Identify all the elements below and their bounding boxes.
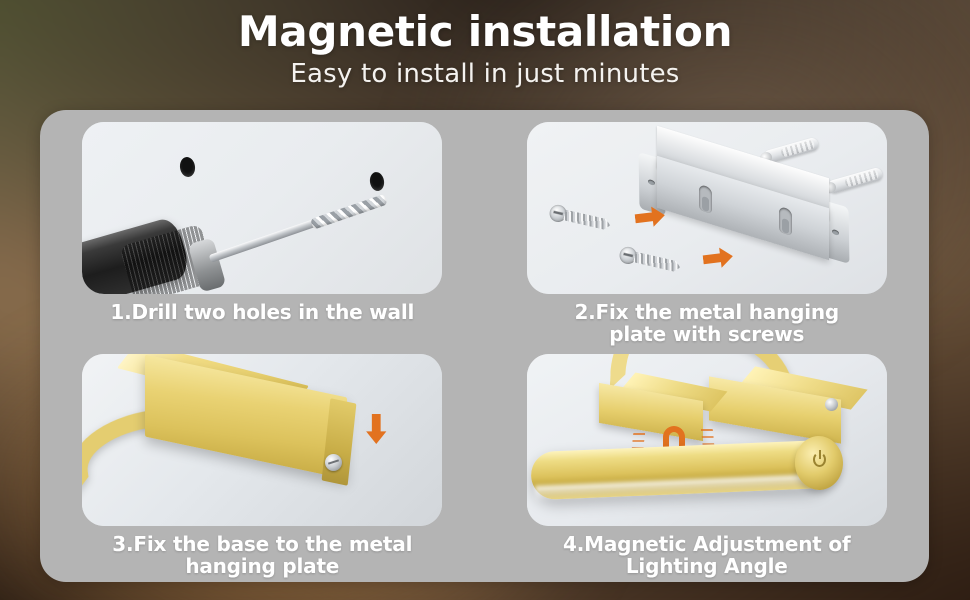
step-2-caption: 2.Fix the metal hanging plate with screw…	[522, 301, 892, 346]
step-4-caption: 4.Magnetic Adjustment of Lighting Angle	[522, 533, 892, 578]
page-subtitle: Easy to install in just minutes	[0, 59, 970, 89]
steps-grid: 1.Drill two holes in the wall	[40, 110, 929, 582]
keyhole-slot-icon	[699, 184, 712, 214]
step-3-caption-line-2: hanging plate	[77, 555, 447, 577]
keyhole-slot-icon	[779, 206, 792, 236]
step-3-caption-line-1: 3.Fix the base to the metal	[77, 533, 447, 555]
step-4-caption-line-2: Lighting Angle	[522, 555, 892, 577]
step-4-image	[527, 354, 887, 526]
step-1-image	[82, 122, 442, 294]
step-1-caption: 1.Drill two holes in the wall	[77, 301, 447, 323]
step-3-image	[82, 354, 442, 526]
step-2-image	[527, 122, 887, 294]
step-4: 4.Magnetic Adjustment of Lighting Angle	[485, 346, 930, 582]
power-button-icon[interactable]	[813, 452, 826, 467]
steps-panel: 1.Drill two holes in the wall	[40, 110, 929, 582]
fixing-screw-icon	[825, 398, 838, 411]
header: Magnetic installation Easy to install in…	[0, 8, 970, 89]
step-3: 3.Fix the base to the metal hanging plat…	[40, 346, 485, 582]
infographic-root: Magnetic installation Easy to install in…	[0, 0, 970, 600]
step-1: 1.Drill two holes in the wall	[40, 110, 485, 346]
page-title: Magnetic installation	[0, 8, 970, 55]
step-4-caption-line-1: 4.Magnetic Adjustment of	[522, 533, 892, 555]
step-3-caption: 3.Fix the base to the metal hanging plat…	[77, 533, 447, 578]
tab-hole-icon	[832, 229, 839, 236]
tab-hole-icon	[648, 179, 655, 186]
step-2: 2.Fix the metal hanging plate with screw…	[485, 110, 930, 346]
step-2-caption-line-2: plate with screws	[522, 323, 892, 345]
step-2-caption-line-1: 2.Fix the metal hanging	[522, 301, 892, 323]
